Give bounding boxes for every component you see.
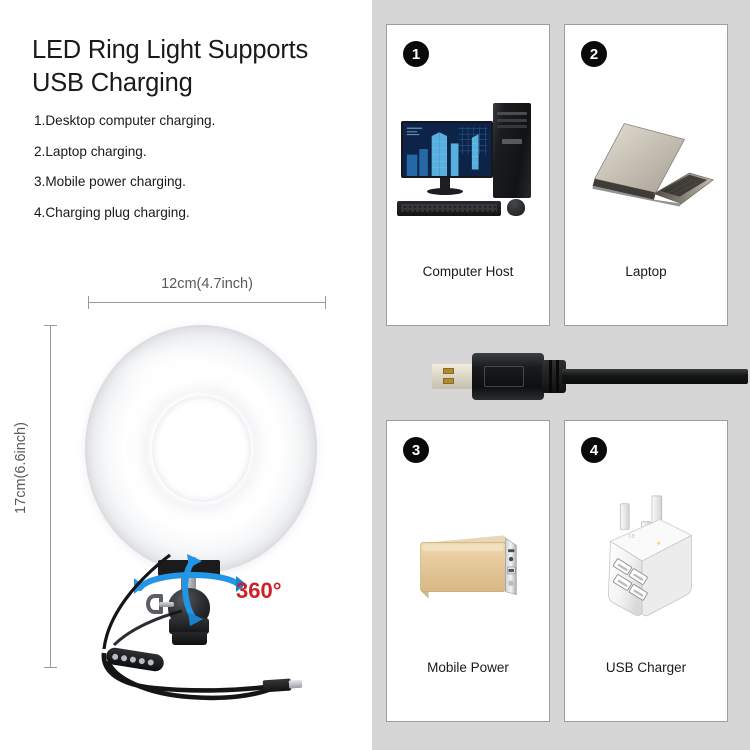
page-title: LED Ring Light Supports USB Charging [32, 34, 342, 99]
svg-text:CE: CE [628, 533, 636, 539]
usb-a-connector-icon [432, 340, 748, 412]
feature-item-1: 1.Desktop computer charging. [34, 114, 354, 128]
usb-cable-wire [562, 369, 748, 384]
ring-light-icon [80, 320, 325, 580]
mouse-icon [507, 199, 525, 216]
left-panel: LED Ring Light Supports USB Charging 1.D… [0, 0, 372, 750]
ring-light-aperture [152, 396, 251, 502]
usage-card-usb-charger[interactable]: 4 [564, 420, 728, 722]
keyboard-icon [397, 201, 501, 216]
feature-item-2: 2.Laptop charging. [34, 145, 354, 159]
card-caption: Mobile Power [387, 660, 549, 675]
computer-tower [493, 103, 531, 198]
card-badge: 4 [581, 437, 607, 463]
ring-light-body [85, 325, 317, 573]
ring-light-highlight [111, 343, 231, 403]
usage-card-laptop[interactable]: 2 [564, 24, 728, 326]
width-dimension-label: 12cm(4.7inch) [88, 276, 326, 292]
card-badge: 1 [403, 41, 429, 67]
width-dimension-line [88, 302, 326, 303]
height-dimension-label: 17cm(6.6inch) [13, 408, 29, 528]
usage-card-mobile-power[interactable]: 3 [386, 420, 550, 722]
product-infographic: LED Ring Light Supports USB Charging 1.D… [0, 0, 750, 750]
card-caption: USB Charger [565, 660, 727, 675]
feature-item-4: 4.Charging plug charging. [34, 206, 354, 220]
usb-metal-shell [432, 364, 474, 389]
feature-item-3: 3.Mobile power charging. [34, 175, 354, 189]
svg-text:⚡: ⚡ [656, 540, 662, 547]
laptop-icon [565, 87, 727, 252]
card-caption: Computer Host [387, 264, 549, 279]
monitor-stand-base [427, 188, 463, 195]
card-caption: Laptop [565, 264, 727, 279]
monitor-screen [401, 121, 493, 178]
card-badge: 2 [581, 41, 607, 67]
usage-card-computer-host[interactable]: 1 [386, 24, 550, 326]
usb-connector-housing [472, 353, 544, 400]
power-cable-icon [78, 545, 338, 725]
usb-wall-charger-icon: CE ⚡ [565, 483, 727, 648]
right-panel: 1 [372, 0, 750, 750]
power-bank-icon [387, 483, 549, 648]
feature-list: 1.Desktop computer charging. 2.Laptop ch… [34, 114, 354, 236]
desktop-computer-icon [387, 87, 549, 252]
height-dimension-line [50, 325, 51, 668]
card-badge: 3 [403, 437, 429, 463]
